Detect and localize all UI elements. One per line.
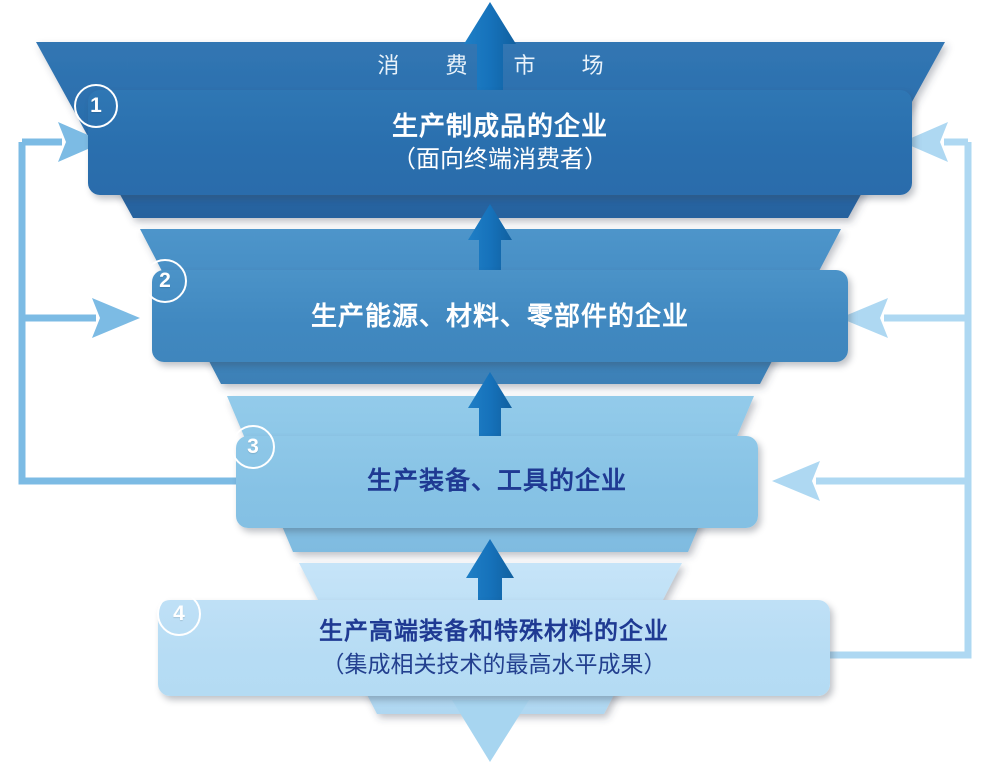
level-2-box[interactable]: 生产能源、材料、零部件的企业 (152, 270, 848, 362)
level-3-number-badge: 3 (231, 425, 275, 469)
level-4-subtitle: （集成相关技术的最高水平成果） (322, 650, 667, 679)
level-4-number-badge: 4 (157, 592, 201, 636)
level-4-title: 生产高端装备和特殊材料的企业 (319, 617, 669, 647)
right-connector-spine-outer (830, 142, 968, 655)
level-3-title: 生产装备、工具的企业 (367, 466, 627, 498)
right-arrow-to-level-3-icon (772, 461, 820, 501)
level-1-subtitle: （面向终端消费者） (392, 145, 608, 175)
level-4-box[interactable]: 生产高端装备和特殊材料的企业 （集成相关技术的最高水平成果） (158, 600, 830, 696)
level-1-number-badge: 1 (74, 84, 118, 128)
level-3-box[interactable]: 生产装备、工具的企业 (236, 436, 758, 528)
level-2-number-badge: 2 (143, 259, 187, 303)
level-1-title: 生产制成品的企业 (392, 110, 608, 143)
funnel-bottom-down-triangle (452, 700, 529, 762)
funnel-diagram-canvas: 消 费 市 场 生产制成品的企业 （面向终端消费者） 生产能源、材料、零部件的企… (0, 0, 981, 768)
level-2-title: 生产能源、材料、零部件的企业 (311, 300, 689, 333)
level-1-box[interactable]: 生产制成品的企业 （面向终端消费者） (88, 90, 912, 195)
left-arrow-to-level-2-icon (92, 298, 140, 338)
consumer-market-label: 消 费 市 场 (0, 48, 981, 80)
